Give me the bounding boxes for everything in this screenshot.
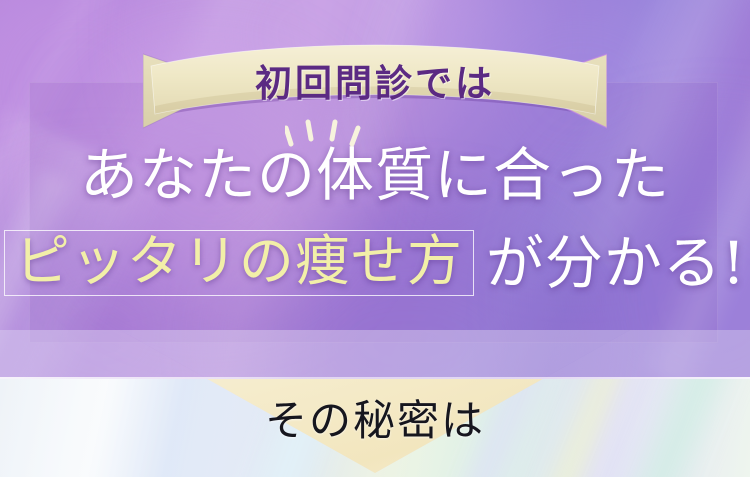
headline-block: あなたの体質に合った xyxy=(0,146,750,204)
headline-line-2-row: ピッタリの痩せ方 が分かる! xyxy=(0,230,750,296)
headline-line-1-wrapper: あなたの体質に合った xyxy=(80,146,670,204)
promo-banner: 初回問診では あなたの体質に合った ピッタリの痩せ方 が分かる! xyxy=(0,0,750,477)
highlighted-phrase-box: ピッタリの痩せ方 xyxy=(4,230,474,296)
section-divider xyxy=(0,377,750,379)
headline-line-1: あなたの体質に合った xyxy=(80,141,670,209)
ribbon-label: 初回問診では xyxy=(143,36,607,140)
headline-line-2-suffix: が分かる! xyxy=(486,234,746,292)
ribbon-banner: 初回問診では xyxy=(143,36,607,140)
footer-text: その秘密は xyxy=(0,400,750,442)
sparkle-burst-icon xyxy=(285,119,363,149)
